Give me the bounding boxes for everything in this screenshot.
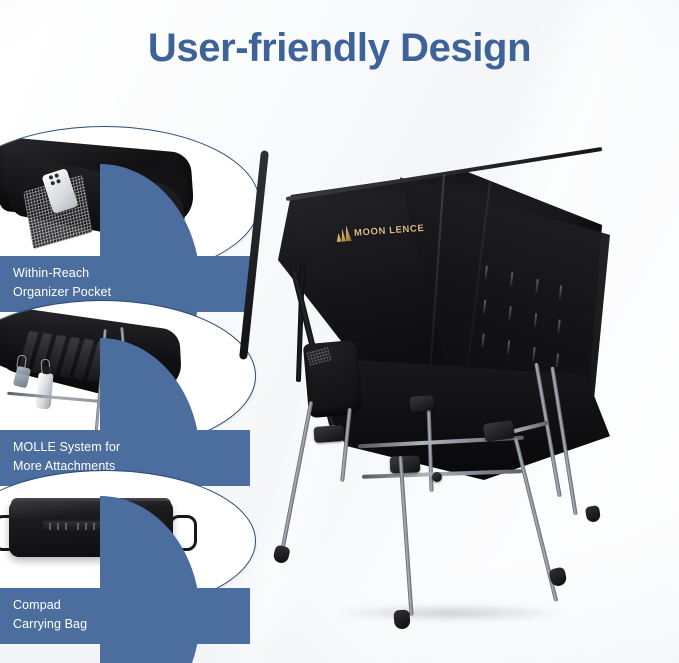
caption-line-1: Within-Reach [13, 264, 111, 283]
main-product-image: MOON LENCE [250, 150, 679, 663]
mountain-logo-icon [336, 225, 352, 242]
frame-leg [398, 456, 413, 616]
chair-foot [394, 610, 411, 630]
chair-foot [585, 505, 601, 523]
hanging-water-bottle [35, 372, 53, 409]
frame-leg [279, 401, 313, 559]
frame-hub-connector [313, 425, 344, 443]
frame-cross-bar [362, 469, 522, 479]
caption-text-organizer-pocket: Within-Reach Organizer Pocket [13, 264, 111, 302]
molle-loop-grid [475, 265, 578, 382]
product-infographic: User-friendly Design Within-Reach [0, 0, 679, 663]
caption-line-2: More Attachments [13, 457, 120, 476]
frame-hub-connector [410, 395, 435, 412]
feature-caption-banner-carrying-bag: Compad Carrying Bag [0, 588, 250, 644]
frame-joint-knob [432, 472, 442, 482]
brand-logo-text: MOON LENCE [354, 222, 425, 238]
caption-line-2: Carrying Bag [13, 615, 87, 634]
page-title: User-friendly Design [0, 26, 679, 71]
caption-line-1: MOLLE System for [13, 438, 120, 457]
caption-text-carrying-bag: Compad Carrying Bag [13, 596, 87, 634]
chair-foot [272, 544, 291, 564]
frame-hub-connector [390, 455, 421, 473]
hanging-keys-accessory [13, 366, 31, 389]
caption-line-1: Compad [13, 596, 87, 615]
caption-line-2: Organizer Pocket [13, 283, 111, 302]
caption-text-molle-system: MOLLE System for More Attachments [13, 438, 120, 476]
